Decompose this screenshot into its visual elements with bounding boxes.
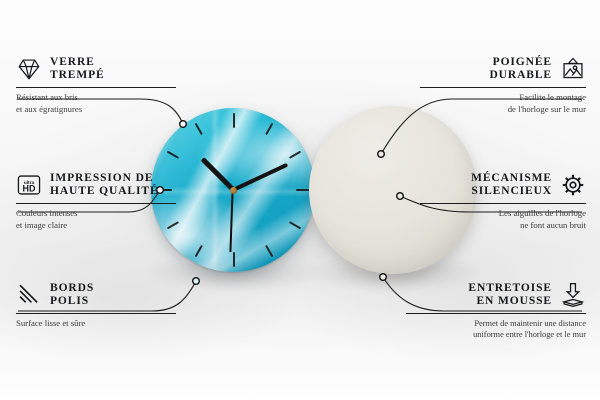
foam-spacer-arrow-icon — [560, 282, 586, 308]
subtitle-line: et image claire — [16, 220, 176, 232]
divider — [16, 203, 176, 204]
picture-hanger-icon — [560, 56, 586, 82]
callout-header: ultra HD IMPRESSION DE HAUTE QUALITÉ — [16, 172, 176, 199]
callout-header: ENTRETOISE EN MOUSSE — [406, 282, 586, 309]
callout-subtitle: Les aiguilles de l'horloge ne font aucun… — [420, 208, 586, 231]
divider — [420, 87, 586, 88]
callout-subtitle: Résistant aux bris et aux égratignures — [16, 92, 176, 115]
callout-poignee-durable: POIGNÉE DURABLE Facilite le montage de l… — [420, 56, 586, 115]
polished-edge-icon — [16, 282, 42, 308]
subtitle-line: uniforme entre l'horloge et le mur — [406, 329, 586, 340]
title-line: EN MOUSSE — [468, 295, 552, 308]
callout-impression-haute-qualite: ultra HD IMPRESSION DE HAUTE QUALITÉ Cou… — [16, 172, 176, 231]
subtitle-line: Résistant aux bris — [16, 92, 176, 104]
callout-mecanisme-silencieux: MÉCANISME SILENCIEUX — [420, 172, 586, 231]
callout-title: IMPRESSION DE HAUTE QUALITÉ — [50, 172, 159, 199]
title-line: HAUTE QUALITÉ — [50, 185, 159, 198]
title-line: DURABLE — [489, 69, 552, 82]
divider — [16, 313, 176, 314]
subtitle-line: de l'horloge sur le mur — [420, 104, 586, 116]
gear-icon — [560, 172, 586, 198]
subtitle-line: Facilite le montage — [420, 92, 586, 104]
clock-tick — [233, 252, 235, 267]
callout-bords-polis: BORDS POLIS Surface lisse et sûre — [16, 282, 176, 330]
subtitle-line: Couleurs intenses — [16, 208, 176, 220]
ultra-hd-icon: ultra HD — [16, 172, 42, 198]
title-line: VERRE — [50, 56, 105, 69]
callout-verre-trempe: VERRE TREMPÉ Résistant aux bris et aux é… — [16, 56, 176, 115]
title-line: SILENCIEUX — [471, 185, 552, 198]
callout-header: POIGNÉE DURABLE — [420, 56, 586, 83]
callout-subtitle: Permet de maintenir une distance uniform… — [406, 318, 586, 341]
diamond-icon — [16, 56, 42, 82]
callout-title: POIGNÉE DURABLE — [489, 56, 552, 83]
clock-tick — [233, 113, 235, 128]
title-line: POIGNÉE — [489, 56, 552, 69]
divider — [16, 87, 176, 88]
subtitle-line: ne font aucun bruit — [420, 220, 586, 232]
title-line: BORDS — [50, 282, 94, 295]
infographic-canvas: VERRE TREMPÉ Résistant aux bris et aux é… — [0, 0, 600, 400]
divider — [420, 203, 586, 204]
subtitle-line: et aux égratignures — [16, 104, 176, 116]
callout-title: VERRE TREMPÉ — [50, 56, 105, 83]
callout-subtitle: Couleurs intenses et image claire — [16, 208, 176, 231]
callout-header: BORDS POLIS — [16, 282, 176, 309]
title-line: TREMPÉ — [50, 69, 105, 82]
callout-subtitle: Surface lisse et sûre — [16, 318, 176, 330]
svg-text:HD: HD — [23, 184, 36, 194]
title-line: POLIS — [50, 295, 94, 308]
callout-header: VERRE TREMPÉ — [16, 56, 176, 83]
callout-entretoise-en-mousse: ENTRETOISE EN MOUSSE Permet de maintenir… — [406, 282, 586, 341]
title-line: MÉCANISME — [471, 172, 552, 185]
callout-header: MÉCANISME SILENCIEUX — [420, 172, 586, 199]
callout-title: BORDS POLIS — [50, 282, 94, 309]
divider — [406, 313, 586, 314]
clock-center-cap — [230, 187, 237, 194]
subtitle-line: Surface lisse et sûre — [16, 318, 176, 330]
subtitle-line: Permet de maintenir une distance — [406, 318, 586, 329]
callout-title: ENTRETOISE EN MOUSSE — [468, 282, 552, 309]
callout-subtitle: Facilite le montage de l'horloge sur le … — [420, 92, 586, 115]
subtitle-line: Les aiguilles de l'horloge — [420, 208, 586, 220]
title-line: IMPRESSION DE — [50, 172, 159, 185]
callout-title: MÉCANISME SILENCIEUX — [471, 172, 552, 199]
title-line: ENTRETOISE — [468, 282, 552, 295]
